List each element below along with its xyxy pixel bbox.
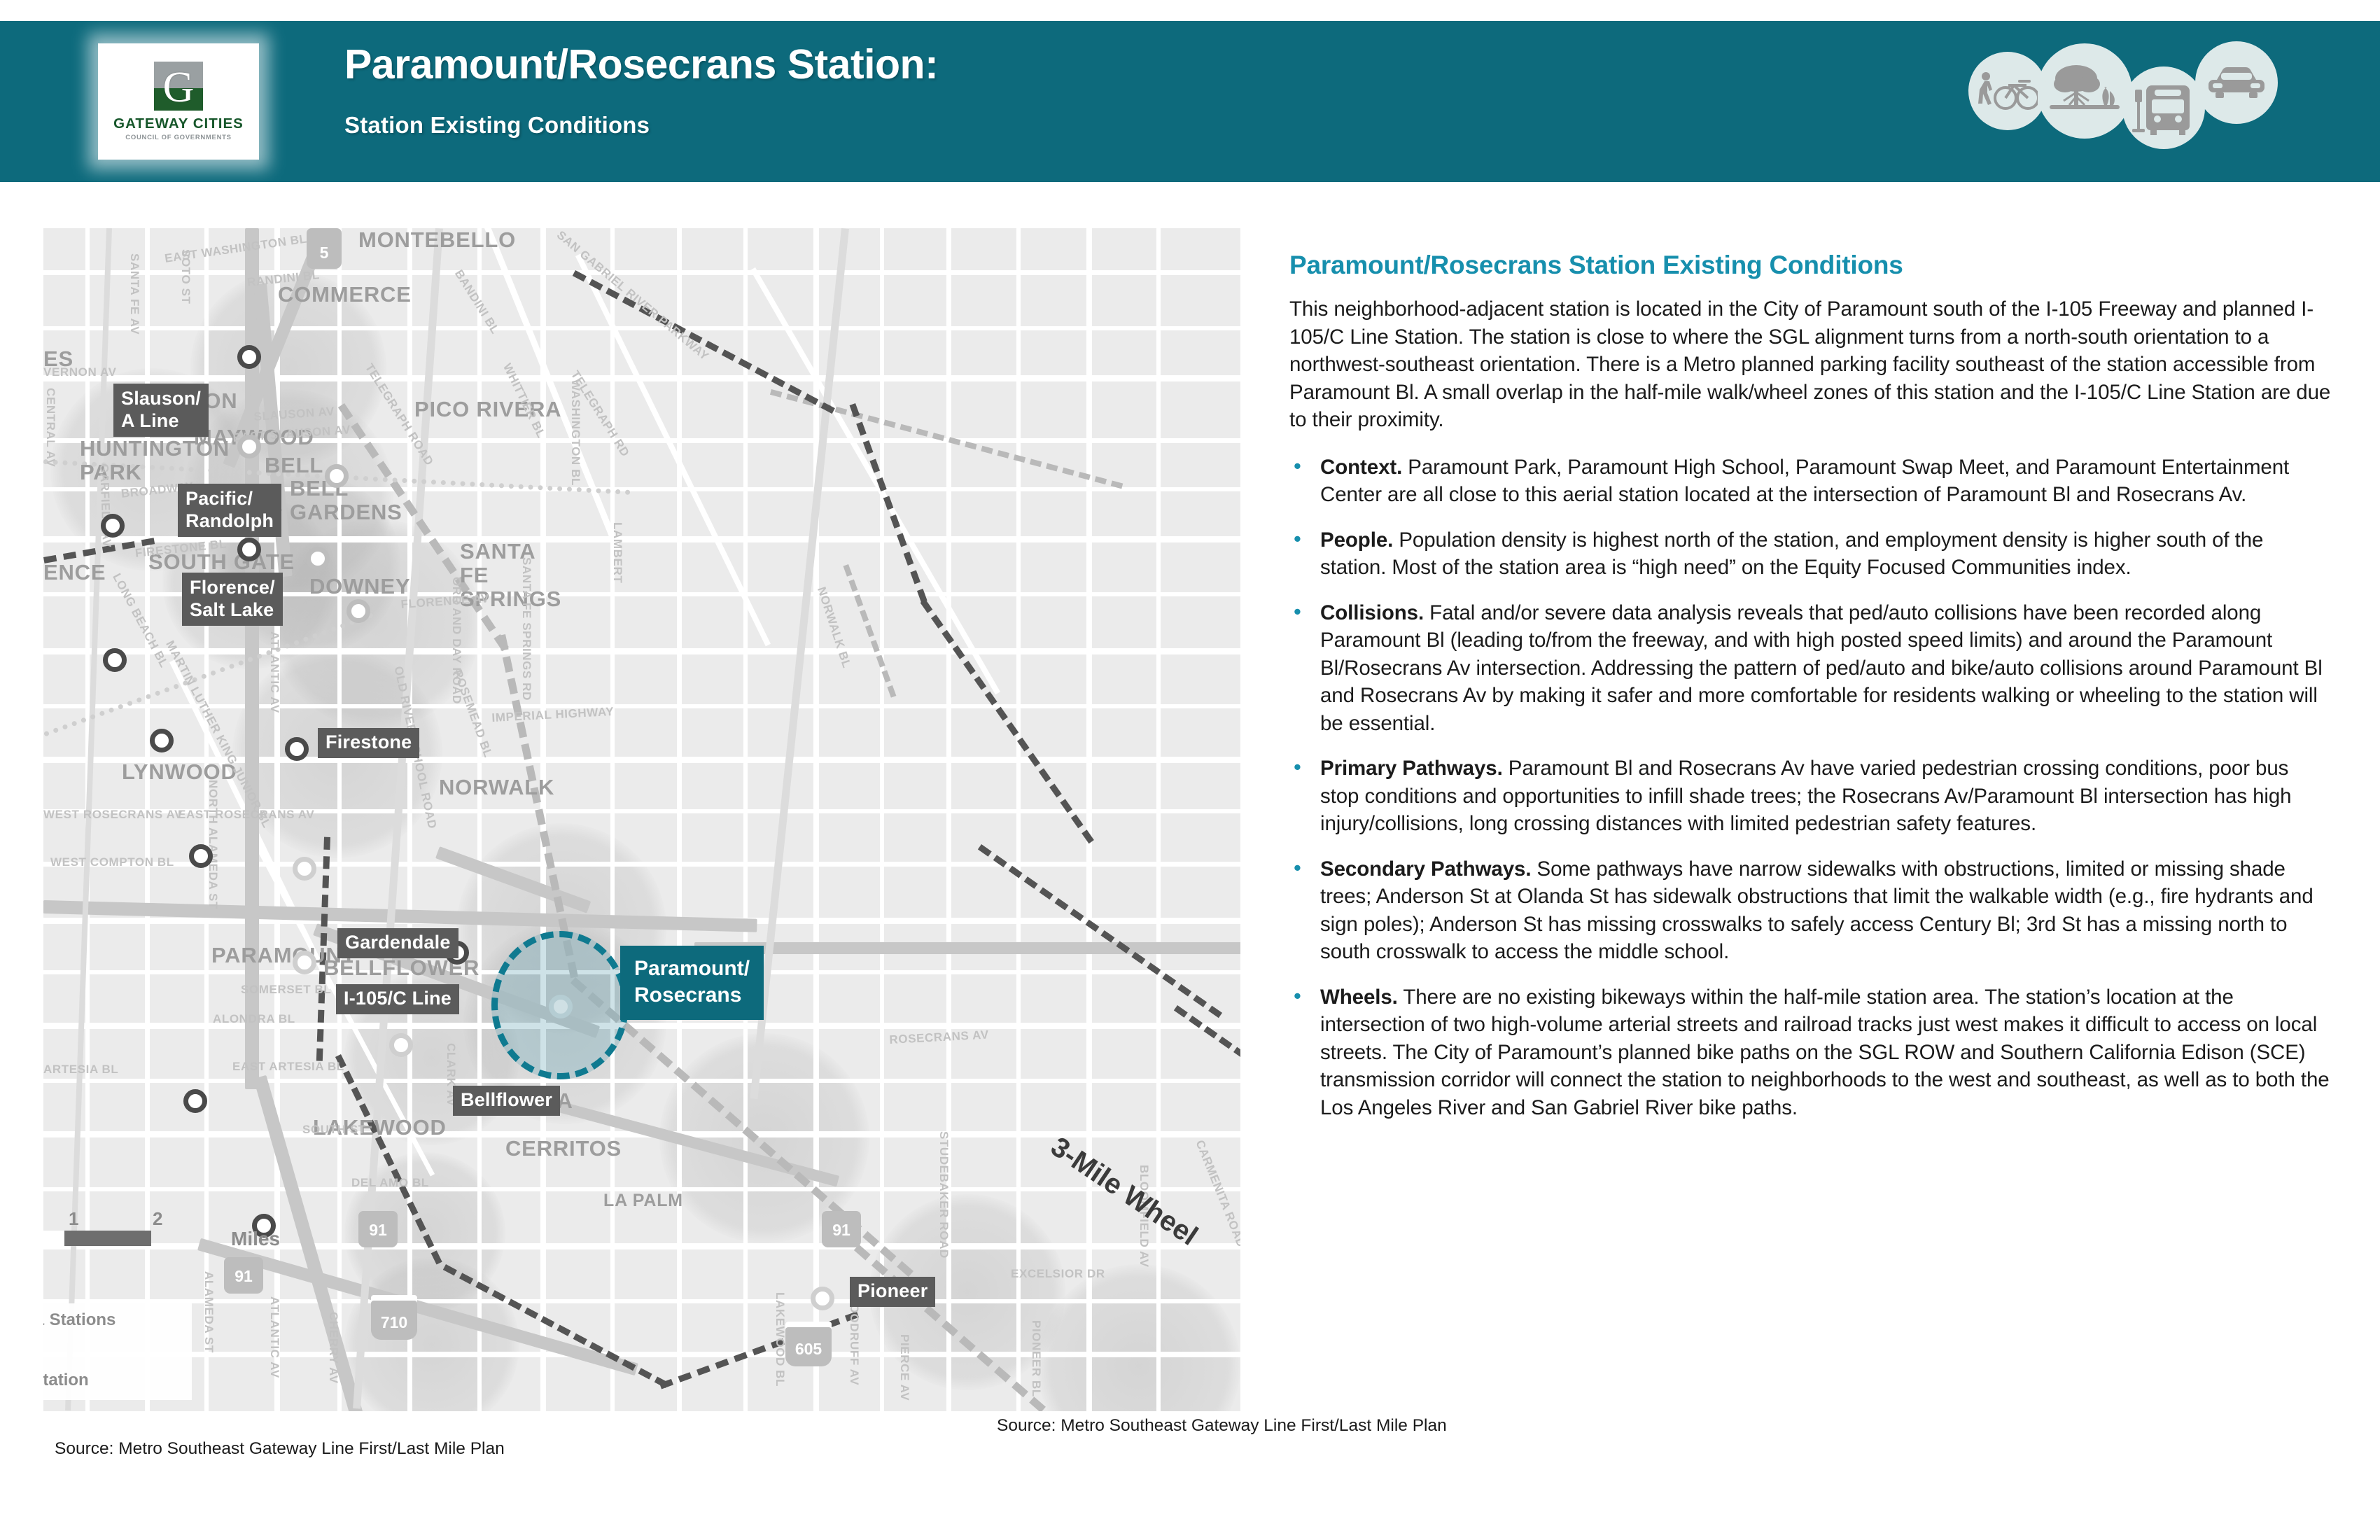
station-label-line1: Pacific/ xyxy=(185,487,274,510)
legend-title-transit-lines: it Lines & Stations xyxy=(43,1310,183,1330)
conditions-bullet-4: Primary Pathways. Paramount Bl and Rosec… xyxy=(1289,755,2332,838)
logo-g-monogram-icon: G xyxy=(154,62,203,111)
map-road xyxy=(43,1079,1240,1083)
scale-seg xyxy=(64,1231,108,1246)
map-station-dot[interactable] xyxy=(293,857,316,881)
street-label: EAST ROSECRANS AV xyxy=(178,808,314,822)
map-road xyxy=(610,228,615,1411)
map-freeway xyxy=(694,942,1240,954)
station-label-pacific-randolph[interactable]: Pacific/ Randolph xyxy=(178,484,281,537)
map-station-dot[interactable] xyxy=(237,538,261,561)
street-label: PIERCE AV xyxy=(897,1334,911,1401)
city-label: CERRITOS xyxy=(505,1137,622,1161)
station-label-firestone[interactable]: Firestone xyxy=(318,728,419,758)
map-scale-bar: 1 2 Miles xyxy=(43,1208,224,1246)
street-label: SANTA FE AV xyxy=(127,253,141,335)
map-road xyxy=(43,1299,1240,1303)
bullet-lead: Primary Pathways. xyxy=(1320,757,1503,780)
intro-paragraph: This neighborhood-adjacent station is lo… xyxy=(1289,295,2332,434)
station-label-florence-salt-lake[interactable]: Florence/ Salt Lake xyxy=(182,573,283,626)
station-label-line2: Randolph xyxy=(185,510,274,532)
street-label: ORR AND DAY ROAD xyxy=(449,577,463,704)
city-label: COMMERCE xyxy=(278,283,412,307)
city-label: DOWNEY xyxy=(309,575,410,598)
freeway-shield-605: 605 xyxy=(785,1322,832,1366)
city-label: LA PALM xyxy=(603,1189,683,1212)
street-label: PIONEER BL xyxy=(1029,1320,1043,1397)
city-label: ENCE xyxy=(43,561,106,584)
bullet-lead: Secondary Pathways. xyxy=(1320,857,1531,881)
conditions-bullet-list: Context. Paramount Park, Paramount High … xyxy=(1289,454,2332,1122)
station-label-i105-c-line[interactable]: I-105/C Line xyxy=(336,984,459,1014)
map-station-dot[interactable] xyxy=(811,1287,834,1310)
street-label: CHERRY AV xyxy=(326,1312,340,1384)
pedestrian-bicycle-icon xyxy=(1968,52,2047,130)
bus-icon xyxy=(2122,66,2205,149)
street-label: ALAMEDA ST xyxy=(202,1271,216,1353)
conditions-bullet-6: Wheels. There are no existing bikeways w… xyxy=(1289,983,2332,1122)
scale-seg xyxy=(108,1231,151,1246)
scale-unit-label: Miles xyxy=(231,1228,280,1250)
street-label: STUDEBAKER ROAD xyxy=(937,1131,951,1259)
bullet-lead: People. xyxy=(1320,528,1393,552)
section-heading: Paramount/Rosecrans Station Existing Con… xyxy=(1289,251,2332,280)
street-label: LAKEWOOD BL xyxy=(773,1292,787,1387)
map-road xyxy=(43,648,1240,654)
street-label: SOTO ST xyxy=(178,249,192,304)
map-station-dot[interactable] xyxy=(389,1033,413,1057)
map-source-caption: Source: Metro Southeast Gateway Line Fir… xyxy=(55,1439,505,1459)
city-label: MONTEBELLO xyxy=(358,228,516,252)
map-road xyxy=(43,862,1240,867)
station-label-pioneer[interactable]: Pioneer xyxy=(850,1277,935,1307)
map-station-dot[interactable] xyxy=(101,514,125,538)
street-label: SANTA FE SPRINGS RD xyxy=(519,557,533,701)
street-label: SOUTH ST xyxy=(302,1123,366,1137)
freeway-shield-5: 5 xyxy=(307,228,342,269)
street-label: WEST ROSECRANS AV xyxy=(43,808,183,822)
conditions-bullet-3: Collisions. Fatal and/or severe data ana… xyxy=(1289,599,2332,738)
station-label-gardendale[interactable]: Gardendale xyxy=(337,928,458,958)
selected-station-label-line2: Rosecrans xyxy=(634,982,750,1009)
map-station-dot[interactable] xyxy=(285,737,309,761)
street-label: DEL AMO BL xyxy=(351,1176,429,1190)
station-label-line1: Florence/ xyxy=(190,576,275,598)
station-label-slauson-a-line[interactable]: Slauson/ A Line xyxy=(113,384,209,437)
scale-tick-1: 1 xyxy=(69,1208,78,1230)
freeway-shield-710: 710 xyxy=(371,1295,417,1340)
street-label: ALONDRA BL xyxy=(213,1012,295,1026)
map-road xyxy=(880,228,884,1411)
map-station-dot[interactable] xyxy=(103,648,127,672)
tree-landscape-icon xyxy=(2037,43,2132,139)
map-station-dot[interactable] xyxy=(293,951,316,974)
street-label: ATLANTIC AV xyxy=(267,631,281,713)
map-station-dot[interactable] xyxy=(183,1089,207,1113)
conditions-bullet-5: Secondary Pathways. Some pathways have n… xyxy=(1289,855,2332,966)
map-station-dot[interactable] xyxy=(237,435,261,458)
map-station-dot[interactable] xyxy=(346,599,370,623)
city-label: NORWALK xyxy=(439,776,554,799)
station-label-bellflower[interactable]: Bellflower xyxy=(453,1086,560,1116)
bullet-lead: Context. xyxy=(1320,456,1402,479)
map-road xyxy=(43,1352,1240,1357)
map-road xyxy=(43,270,1240,275)
street-label: NORTH ALAMEDA ST xyxy=(206,780,220,909)
selected-station-label-line1: Paramount/ xyxy=(634,955,750,982)
selected-station-label[interactable]: Paramount/ Rosecrans xyxy=(620,946,764,1020)
conditions-bullet-1: Context. Paramount Park, Paramount High … xyxy=(1289,454,2332,509)
bullet-body: Population density is highest north of t… xyxy=(1320,528,2263,580)
map-road xyxy=(677,228,682,1411)
map-station-dot[interactable] xyxy=(150,729,174,752)
bullet-lead: Collisions. xyxy=(1320,601,1424,624)
street-label: SOMERSET BL xyxy=(241,983,331,997)
freeway-shield-91: 91 xyxy=(822,1211,861,1247)
station-context-map[interactable]: ES ENCE MONTEBELLO COMMERCE VERNON MAYWO… xyxy=(43,228,1240,1411)
street-label: LAMBERT xyxy=(610,522,624,583)
bullet-body: Paramount Park, Paramount High School, P… xyxy=(1320,456,2289,507)
existing-conditions-panel: Paramount/Rosecrans Station Existing Con… xyxy=(1289,251,2332,1139)
street-label: ATLANTIC AV xyxy=(267,1296,281,1378)
logo-org-name: GATEWAY CITIES xyxy=(113,115,244,132)
conditions-bullet-2: People. Population density is highest no… xyxy=(1289,526,2332,582)
gateway-cities-logo: G GATEWAY CITIES COUNCIL OF GOVERNMENTS xyxy=(98,43,259,160)
logo-org-subname: COUNCIL OF GOVERNMENTS xyxy=(125,134,231,141)
logo-letter: G xyxy=(163,66,195,109)
scale-seg xyxy=(43,1231,64,1246)
map-road xyxy=(743,228,748,1411)
bullet-body: There are no existing bikeways within th… xyxy=(1320,986,2330,1119)
map-road xyxy=(1016,228,1021,1411)
map-road xyxy=(407,228,412,1411)
freeway-shield-91: 91 xyxy=(224,1257,263,1294)
station-label-line2: A Line xyxy=(121,409,201,432)
map-legend: it Lines & Stations A E sway & Station xyxy=(43,1303,192,1400)
map-road xyxy=(43,326,1240,330)
street-label: WEST COMPTON BL xyxy=(50,855,174,869)
selected-station-dot[interactable] xyxy=(549,995,573,1018)
page-title: Paramount/Rosecrans Station: xyxy=(344,41,938,88)
map-station-dot[interactable] xyxy=(325,464,349,488)
freeway-shield-91: 91 xyxy=(358,1211,398,1247)
station-label-line2: Salt Lake xyxy=(190,598,275,621)
street-label: VERNON AV xyxy=(43,365,117,379)
text-source-caption: Source: Metro Southeast Gateway Line Fir… xyxy=(997,1416,1447,1436)
car-icon xyxy=(2195,41,2278,124)
map-station-dot[interactable] xyxy=(306,547,330,570)
bullet-body: Fatal and/or severe data analysis reveal… xyxy=(1320,601,2323,735)
map-station-dot[interactable] xyxy=(189,844,213,868)
header-icon-row xyxy=(1968,38,2278,143)
street-label: ARTESIA BL xyxy=(43,1063,118,1077)
page-subtitle: Station Existing Conditions xyxy=(344,112,650,139)
legend-title-busway: sway & Station xyxy=(43,1371,183,1390)
city-label: BELL GARDENS xyxy=(290,477,409,524)
map-road xyxy=(1086,228,1092,1411)
station-label-line1: Slauson/ xyxy=(121,387,201,409)
scale-tick-2: 2 xyxy=(153,1208,162,1230)
map-road xyxy=(43,704,1240,708)
street-label: EAST ARTESIA BL xyxy=(232,1060,344,1074)
street-label: EXCELSIOR DR xyxy=(1011,1267,1105,1281)
street-label: CENTRAL AV xyxy=(43,388,57,467)
bullet-lead: Wheels. xyxy=(1320,986,1398,1009)
city-label: BELL xyxy=(265,454,323,477)
map-station-dot[interactable] xyxy=(237,345,261,369)
